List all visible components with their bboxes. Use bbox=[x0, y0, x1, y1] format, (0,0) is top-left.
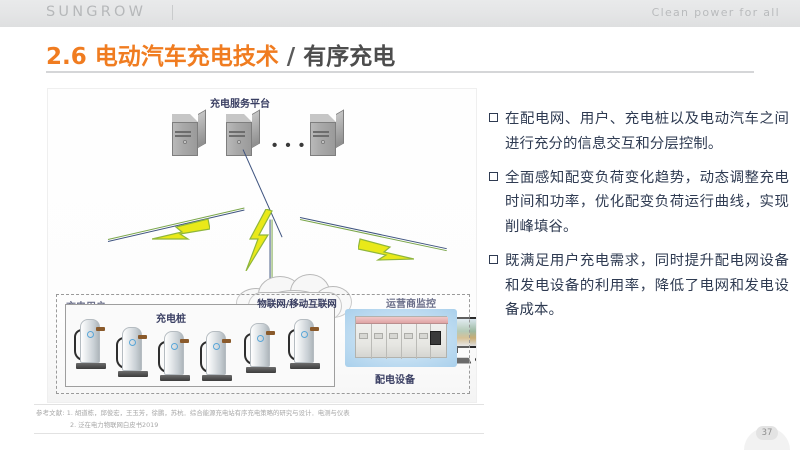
references-label: 参考文献: bbox=[36, 409, 65, 417]
charging-pile-icon bbox=[74, 319, 108, 375]
charging-pile-icon bbox=[116, 327, 150, 383]
pile-label: 充电桩 bbox=[156, 310, 186, 325]
lightning-bolt-icon bbox=[244, 209, 274, 271]
title-separator: / bbox=[287, 44, 295, 70]
sungrow-logo: SUNGROW bbox=[46, 4, 146, 20]
title-underline bbox=[46, 71, 754, 73]
square-bullet-icon bbox=[489, 255, 498, 264]
charging-pile-icon bbox=[244, 323, 278, 379]
footer-divider-bottom bbox=[34, 433, 484, 434]
square-bullet-icon bbox=[489, 172, 498, 181]
charging-pile-group: 充电桩 bbox=[65, 304, 335, 387]
square-bullet-icon bbox=[489, 113, 498, 122]
charging-pile-icon bbox=[288, 319, 322, 375]
list-item: 全面感知配变负荷变化趋势，动态调整充电时间和功率，优化配变负荷运行曲线，实现削峰… bbox=[489, 166, 789, 240]
header-tagline: Clean power for all bbox=[652, 6, 780, 19]
reference-line-2: 2. 泛在电力物联网白皮书2019 bbox=[36, 420, 496, 432]
bullet-list: 在配电网、用户、充电桩以及电动汽车之间进行充分的信息交互和分层控制。 全面感知配… bbox=[489, 107, 789, 332]
title-main: 电动汽车充电技术 bbox=[95, 44, 279, 70]
architecture-diagram: 充电服务平台 • • • bbox=[47, 88, 477, 403]
logo-divider bbox=[172, 5, 173, 20]
list-item: 在配电网、用户、充电桩以及电动汽车之间进行充分的信息交互和分层控制。 bbox=[489, 107, 789, 157]
cloud-label: 物联网/移动互联网 bbox=[244, 296, 350, 310]
bullet-text: 既满足用户充电需求，同时提升配电网设备和发电设备的利用率，降低了电网和发电设备成… bbox=[505, 249, 789, 323]
page-number-badge: 37 bbox=[756, 426, 778, 440]
title-number: 2.6 bbox=[46, 44, 87, 70]
title-sub: 有序充电 bbox=[303, 44, 395, 70]
server-icon bbox=[172, 114, 206, 156]
bullet-text: 全面感知配变负荷变化趋势，动态调整充电时间和功率，优化配变负荷运行曲线，实现削峰… bbox=[505, 166, 789, 240]
list-item: 既满足用户充电需求，同时提升配电网设备和发电设备的利用率，降低了电网和发电设备成… bbox=[489, 249, 789, 323]
charging-pile-icon bbox=[200, 331, 234, 387]
lightning-bolt-icon bbox=[358, 237, 414, 267]
footer-divider-top bbox=[34, 404, 484, 405]
servers-ellipsis: • • • bbox=[272, 137, 306, 154]
page-title: 2.6 电动汽车充电技术 / 有序充电 bbox=[46, 37, 395, 71]
lightning-bolt-icon bbox=[152, 217, 210, 245]
charging-pile-icon bbox=[158, 331, 192, 387]
bullet-text: 在配电网、用户、充电桩以及电动汽车之间进行充分的信息交互和分层控制。 bbox=[505, 107, 789, 157]
slide: SUNGROW Clean power for all 2.6 电动汽车充电技术… bbox=[0, 0, 800, 450]
distribution-label: 配电设备 bbox=[375, 371, 415, 386]
server-icon bbox=[310, 114, 344, 156]
distribution-equipment-icon bbox=[345, 309, 457, 367]
platform-label: 充电服务平台 bbox=[210, 95, 270, 110]
references: 参考文献: 1. 胡道栋，邱俊宏，王玉芳，徐鹏，苏杭．综合能源充电站有序充电策略… bbox=[36, 408, 496, 432]
mouse-icon bbox=[475, 357, 477, 362]
reference-line-1: 1. 胡道栋，邱俊宏，王玉芳，徐鹏，苏杭．综合能源充电站有序充电策略的研究与设计… bbox=[67, 409, 350, 417]
